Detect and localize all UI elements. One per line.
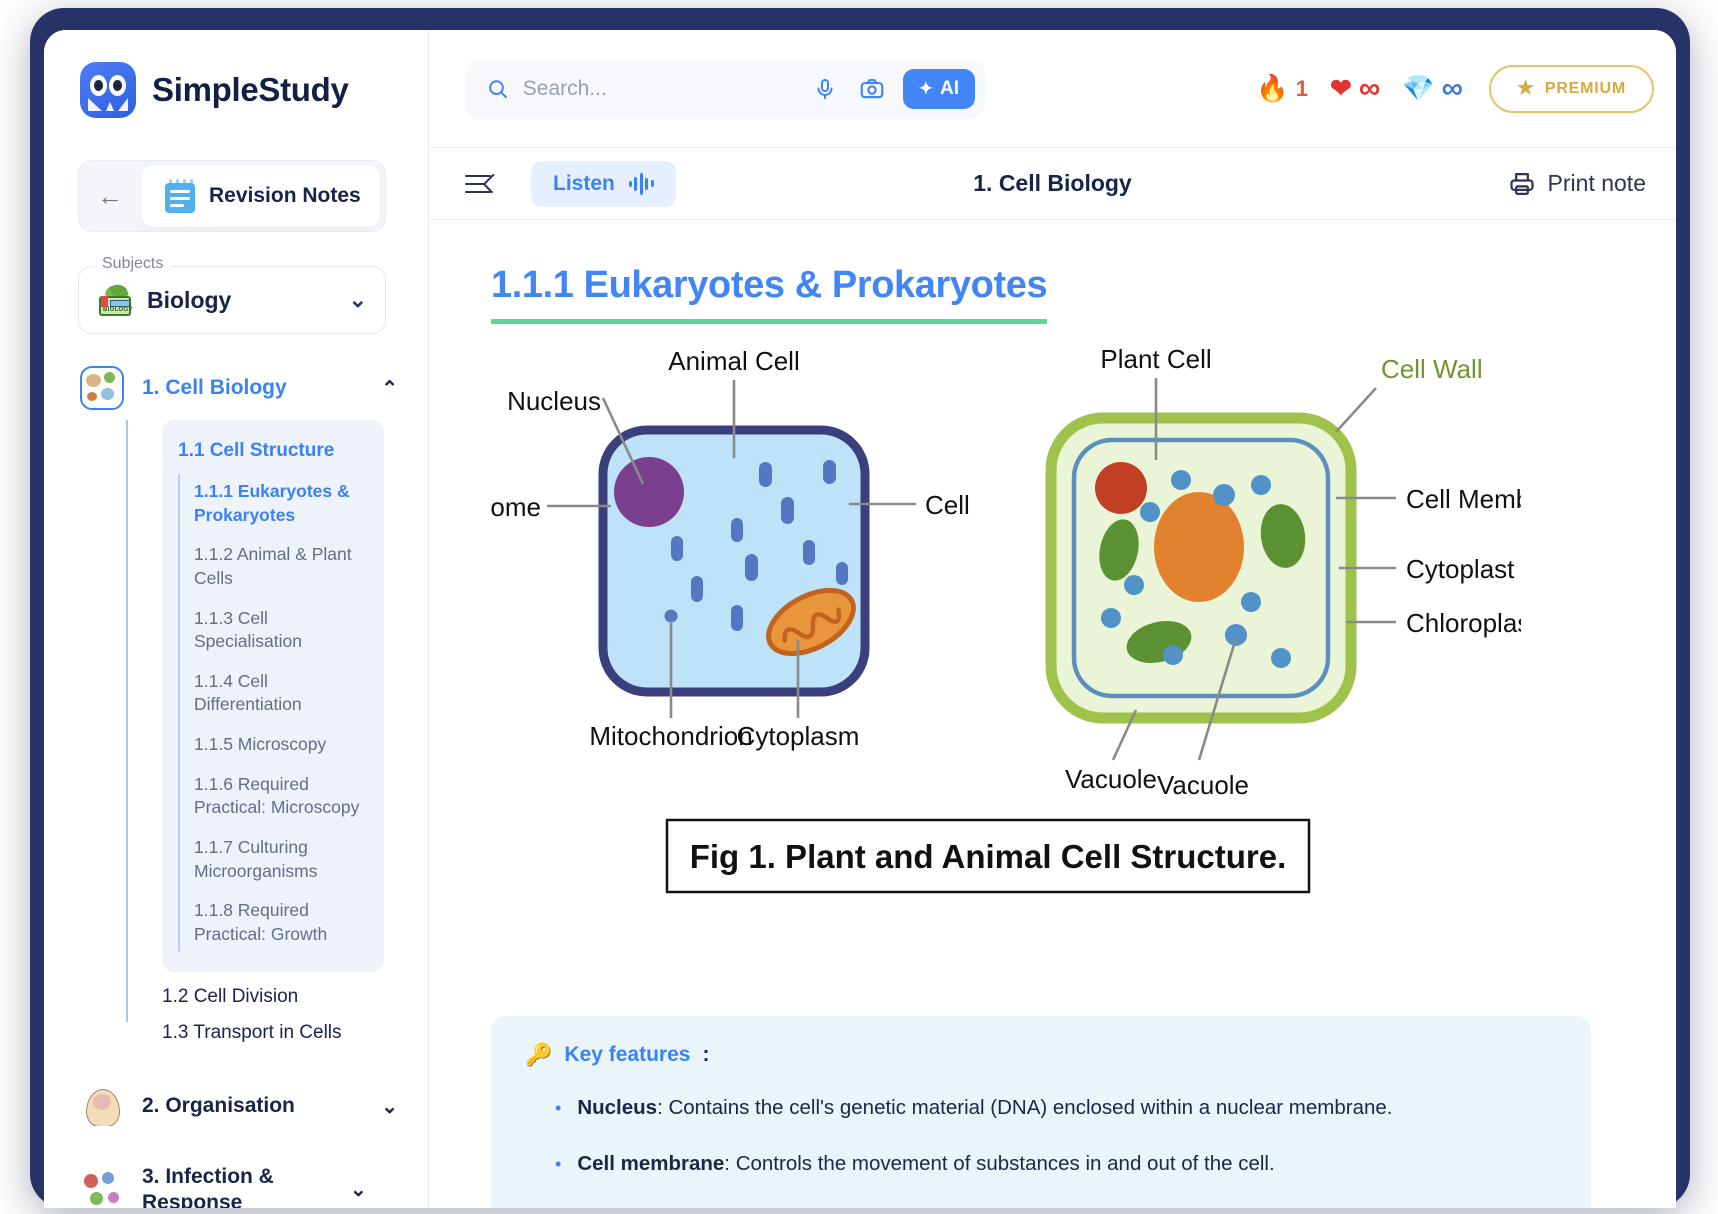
chevron-down-icon[interactable]: ⌄ [381, 1094, 398, 1119]
label-plant-cell: Plant Cell [1100, 344, 1211, 374]
diamond-gems-icon: 💎 [1402, 73, 1434, 104]
ai-button[interactable]: ✦ AI [903, 69, 975, 109]
lives-stat[interactable]: ❤ ∞ [1330, 73, 1380, 104]
plant-cell-group [1051, 378, 1396, 760]
device-frame: SimpleStudy ← Revision Notes Subjects [30, 8, 1690, 1208]
plant-nucleus-shape [1095, 462, 1147, 514]
label-cell: Cell [925, 490, 970, 520]
key-feature-text: Cytoplasm: Gel-like substance where most… [577, 1205, 1229, 1208]
microbes-icon [80, 1168, 124, 1208]
listen-button[interactable]: Listen [531, 161, 676, 207]
print-note-label: Print note [1548, 170, 1646, 197]
chapter-header-2[interactable]: 2. Organisation ⌄ [44, 1084, 428, 1128]
chevron-up-icon[interactable]: ⌃ [381, 376, 398, 401]
sidebar-subitem-1[interactable]: 1.1.1 Eukaryotes & Prokaryotes [194, 472, 384, 535]
stats-group: 🔥 1 ❤ ∞ 💎 ∞ [1256, 73, 1463, 104]
label-nucleus: Nucleus [507, 386, 601, 416]
figure-caption-box: Fig 1. Plant and Animal Cell Structure. [667, 820, 1309, 892]
streak-value: 1 [1296, 76, 1308, 102]
heart-lives-icon: ❤ [1330, 73, 1352, 104]
revision-notes-pill[interactable]: ← Revision Notes [78, 160, 386, 232]
brain-head-icon [80, 1084, 124, 1128]
subject-selector[interactable]: Subjects BIOLOGY Biology ⌄ [78, 266, 386, 334]
biology-book-icon: BIOLOGY [97, 284, 133, 316]
sidebar-subitem-3[interactable]: 1.1.3 Cell Specialisation [194, 599, 384, 662]
key-feature-text: Cell membrane: Controls the movement of … [577, 1150, 1274, 1178]
label-chloroplast: Chloroplast [1406, 608, 1521, 638]
gems-value: ∞ [1442, 74, 1463, 104]
label-vacuole-right: Vacuole [1157, 770, 1249, 800]
subsection-list: 1.1.1 Eukaryotes & Prokaryotes1.1.2 Anim… [178, 472, 384, 954]
key-feature-text: Nucleus: Contains the cell's genetic mat… [577, 1094, 1392, 1122]
page-title: 1.1.1 Eukaryotes & Prokaryotes [491, 264, 1047, 324]
camera-icon[interactable] [855, 69, 888, 109]
label-cell-membrane: Cell Membrane [1406, 484, 1521, 514]
note-toolbar: Listen 1. Cell Biology Print note [429, 148, 1676, 220]
bullet-icon: • [555, 1155, 561, 1173]
key-features-box: 🔑 Key features: •Nucleus: Contains the c… [491, 1016, 1591, 1208]
audio-waveform-icon [629, 173, 654, 195]
sidebar-subitem-5[interactable]: 1.1.5 Microscopy [194, 725, 384, 765]
search-input[interactable] [523, 77, 794, 101]
collapse-sidebar-icon[interactable] [465, 171, 499, 197]
revision-notes-label: Revision Notes [209, 184, 361, 208]
sidebar-subitem-7[interactable]: 1.1.7 Culturing Microorganisms [194, 828, 384, 891]
key-features-title: 🔑 Key features: [525, 1042, 1557, 1068]
key-feature-item: •Cytoplasm: Gel-like substance where mos… [555, 1205, 1557, 1208]
sidebar-subitem-4[interactable]: 1.1.4 Cell Differentiation [194, 662, 384, 725]
lives-value: ∞ [1359, 74, 1380, 104]
back-arrow-icon[interactable]: ← [79, 161, 141, 231]
animal-cell-group [547, 380, 916, 718]
microphone-icon[interactable] [808, 69, 841, 109]
sidebar: SimpleStudy ← Revision Notes Subjects [44, 30, 429, 1208]
simplestudy-mascot-icon [80, 62, 136, 118]
label-cytoplast: Cytoplast [1406, 554, 1515, 584]
sidebar-item-1-3[interactable]: 1.3 Transport in Cells [128, 1008, 428, 1044]
subject-selected-label: Biology [147, 287, 335, 314]
notepad-icon [165, 179, 195, 213]
sidebar-item-1-2[interactable]: 1.2 Cell Division [128, 972, 428, 1008]
sidebar-subitem-6[interactable]: 1.1.6 Required Practical: Microscopy [194, 765, 384, 828]
key-feature-item: •Nucleus: Contains the cell's genetic ma… [555, 1094, 1557, 1122]
print-note-button[interactable]: Print note [1508, 170, 1646, 198]
gems-stat[interactable]: 💎 ∞ [1402, 73, 1463, 104]
search-bar[interactable]: ✦ AI [465, 59, 985, 119]
label-cell-wall: Cell Wall [1381, 354, 1483, 384]
chapter-title-2: 2. Organisation [142, 1094, 363, 1118]
top-bar: ✦ AI 🔥 1 ❤ ∞ 💎 ∞ [429, 30, 1676, 148]
chapter-title-1: 1. Cell Biology [142, 376, 363, 400]
app-screen: SimpleStudy ← Revision Notes Subjects [44, 30, 1676, 1208]
sidebar-chapter-infection: 3. Infection & Response ⌄ [44, 1164, 428, 1208]
label-mitochondrion: Mitochondrion [589, 721, 752, 751]
sidebar-chapter-cell-biology: 1. Cell Biology ⌃ 1.1 Cell Structure 1.1… [44, 366, 428, 1044]
vacuole-shape [1154, 492, 1244, 602]
sparkle-icon: ✦ [919, 79, 933, 99]
bullet-icon: • [555, 1099, 561, 1117]
sidebar-subitem-2[interactable]: 1.1.2 Animal & Plant Cells [194, 535, 384, 598]
chevron-down-icon[interactable]: ⌄ [350, 1177, 367, 1202]
section-label-1-1[interactable]: 1.1 Cell Structure [162, 434, 384, 472]
sidebar-chapter-organisation: 2. Organisation ⌄ [44, 1084, 428, 1128]
chapter-header-1[interactable]: 1. Cell Biology ⌃ [44, 366, 428, 410]
label-ribosome: Ribosome [491, 492, 541, 522]
note-content: 1.1.1 Eukaryotes & Prokaryotes [429, 220, 1676, 1208]
cell-structure-figure: Animal Cell Nucleus Ribosome Cell Mitoch… [491, 340, 1521, 980]
streak-stat[interactable]: 🔥 1 [1256, 73, 1308, 104]
brand: SimpleStudy [44, 30, 428, 118]
chapter-header-3[interactable]: 3. Infection & Response ⌄ [44, 1164, 428, 1208]
key-icon: 🔑 [525, 1042, 552, 1068]
key-features-label: Key features [564, 1043, 690, 1067]
key-features-list: •Nucleus: Contains the cell's genetic ma… [555, 1094, 1557, 1208]
key-feature-item: •Cell membrane: Controls the movement of… [555, 1150, 1557, 1178]
premium-label: PREMIUM [1545, 80, 1626, 98]
ai-label: AI [940, 78, 959, 100]
revision-notes-button[interactable]: Revision Notes [141, 165, 380, 227]
listen-label: Listen [553, 172, 615, 196]
fire-streak-icon: 🔥 [1256, 73, 1288, 104]
chevron-down-icon[interactable]: ⌄ [349, 287, 367, 313]
label-animal-cell: Animal Cell [668, 346, 800, 376]
cell-diagram-svg: Animal Cell Nucleus Ribosome Cell Mitoch… [491, 340, 1521, 900]
search-icon [487, 76, 509, 102]
section-1-1: 1.1 Cell Structure 1.1.1 Eukaryotes & Pr… [162, 420, 384, 972]
sidebar-subitem-8[interactable]: 1.1.8 Required Practical: Growth [194, 891, 384, 954]
star-icon: ★ [1517, 77, 1535, 100]
subjects-legend: Subjects [94, 255, 171, 273]
brand-name: SimpleStudy [152, 71, 349, 109]
chapter-title-3: 3. Infection & Response [142, 1164, 332, 1208]
cells-icon [80, 366, 124, 410]
premium-badge[interactable]: ★ PREMIUM [1489, 65, 1654, 113]
label-vacuole-left: Vacuole [1065, 764, 1157, 794]
main-panel: ✦ AI 🔥 1 ❤ ∞ 💎 ∞ [429, 30, 1676, 1208]
key-features-colon: : [702, 1043, 709, 1067]
label-cytoplasm: Cytoplasm [737, 721, 860, 751]
printer-icon [1508, 170, 1536, 198]
figure-caption: Fig 1. Plant and Animal Cell Structure. [690, 838, 1287, 875]
nucleus-shape [614, 457, 684, 527]
